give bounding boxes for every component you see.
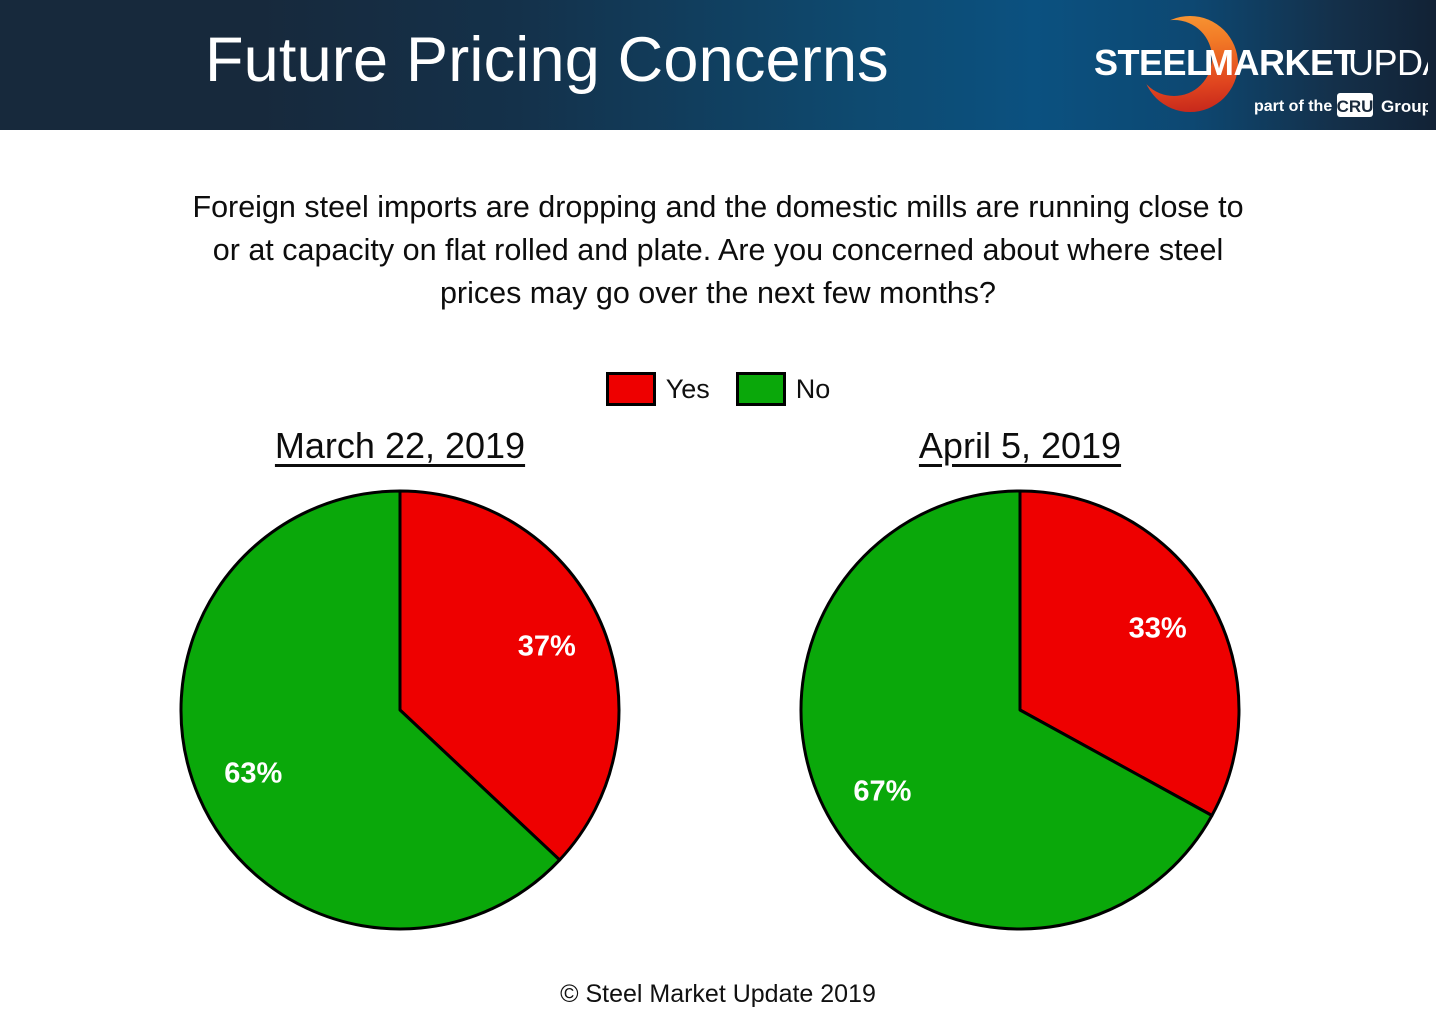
page-title: Future Pricing Concerns <box>205 26 889 94</box>
chart-legend: Yes No <box>0 372 1436 406</box>
legend-entry-no: No <box>736 372 831 406</box>
logo-word-steel: STEEL <box>1094 42 1208 83</box>
pie-chart-april: 33% 67% <box>795 485 1245 935</box>
chart-block-april: April 5, 2019 33% 67% <box>740 424 1300 935</box>
copyright-footer: © Steel Market Update 2019 <box>0 980 1436 1009</box>
chart-title-april: April 5, 2019 <box>919 424 1121 467</box>
legend-swatch-no <box>736 372 786 406</box>
chart-title-march: March 22, 2019 <box>275 424 525 467</box>
charts-row: March 22, 2019 37% 63% April 5, 2019 33%… <box>0 424 1436 984</box>
pie-slices <box>801 491 1239 929</box>
survey-question-text: Foreign steel imports are dropping and t… <box>180 186 1256 315</box>
pie-chart-march: 37% 63% <box>175 485 625 935</box>
logo-word-update: UPDATE <box>1348 42 1428 83</box>
pie-slices <box>181 491 619 929</box>
slide-header: Future Pricing Concerns <box>0 0 1436 130</box>
logo-tagline-badge: CRU <box>1337 97 1374 116</box>
logo-tagline-after: Group <box>1381 97 1428 116</box>
legend-label-no: No <box>796 376 831 403</box>
legend-label-yes: Yes <box>666 376 710 403</box>
logo-tagline-before: part of the <box>1254 98 1332 115</box>
steel-market-update-logo: STEEL MARKET UPDATE part of the CRU Grou… <box>1082 8 1428 124</box>
logo-word-market: MARKET <box>1204 42 1355 83</box>
legend-swatch-yes <box>606 372 656 406</box>
chart-block-march: March 22, 2019 37% 63% <box>120 424 680 935</box>
legend-entry-yes: Yes <box>606 372 710 406</box>
